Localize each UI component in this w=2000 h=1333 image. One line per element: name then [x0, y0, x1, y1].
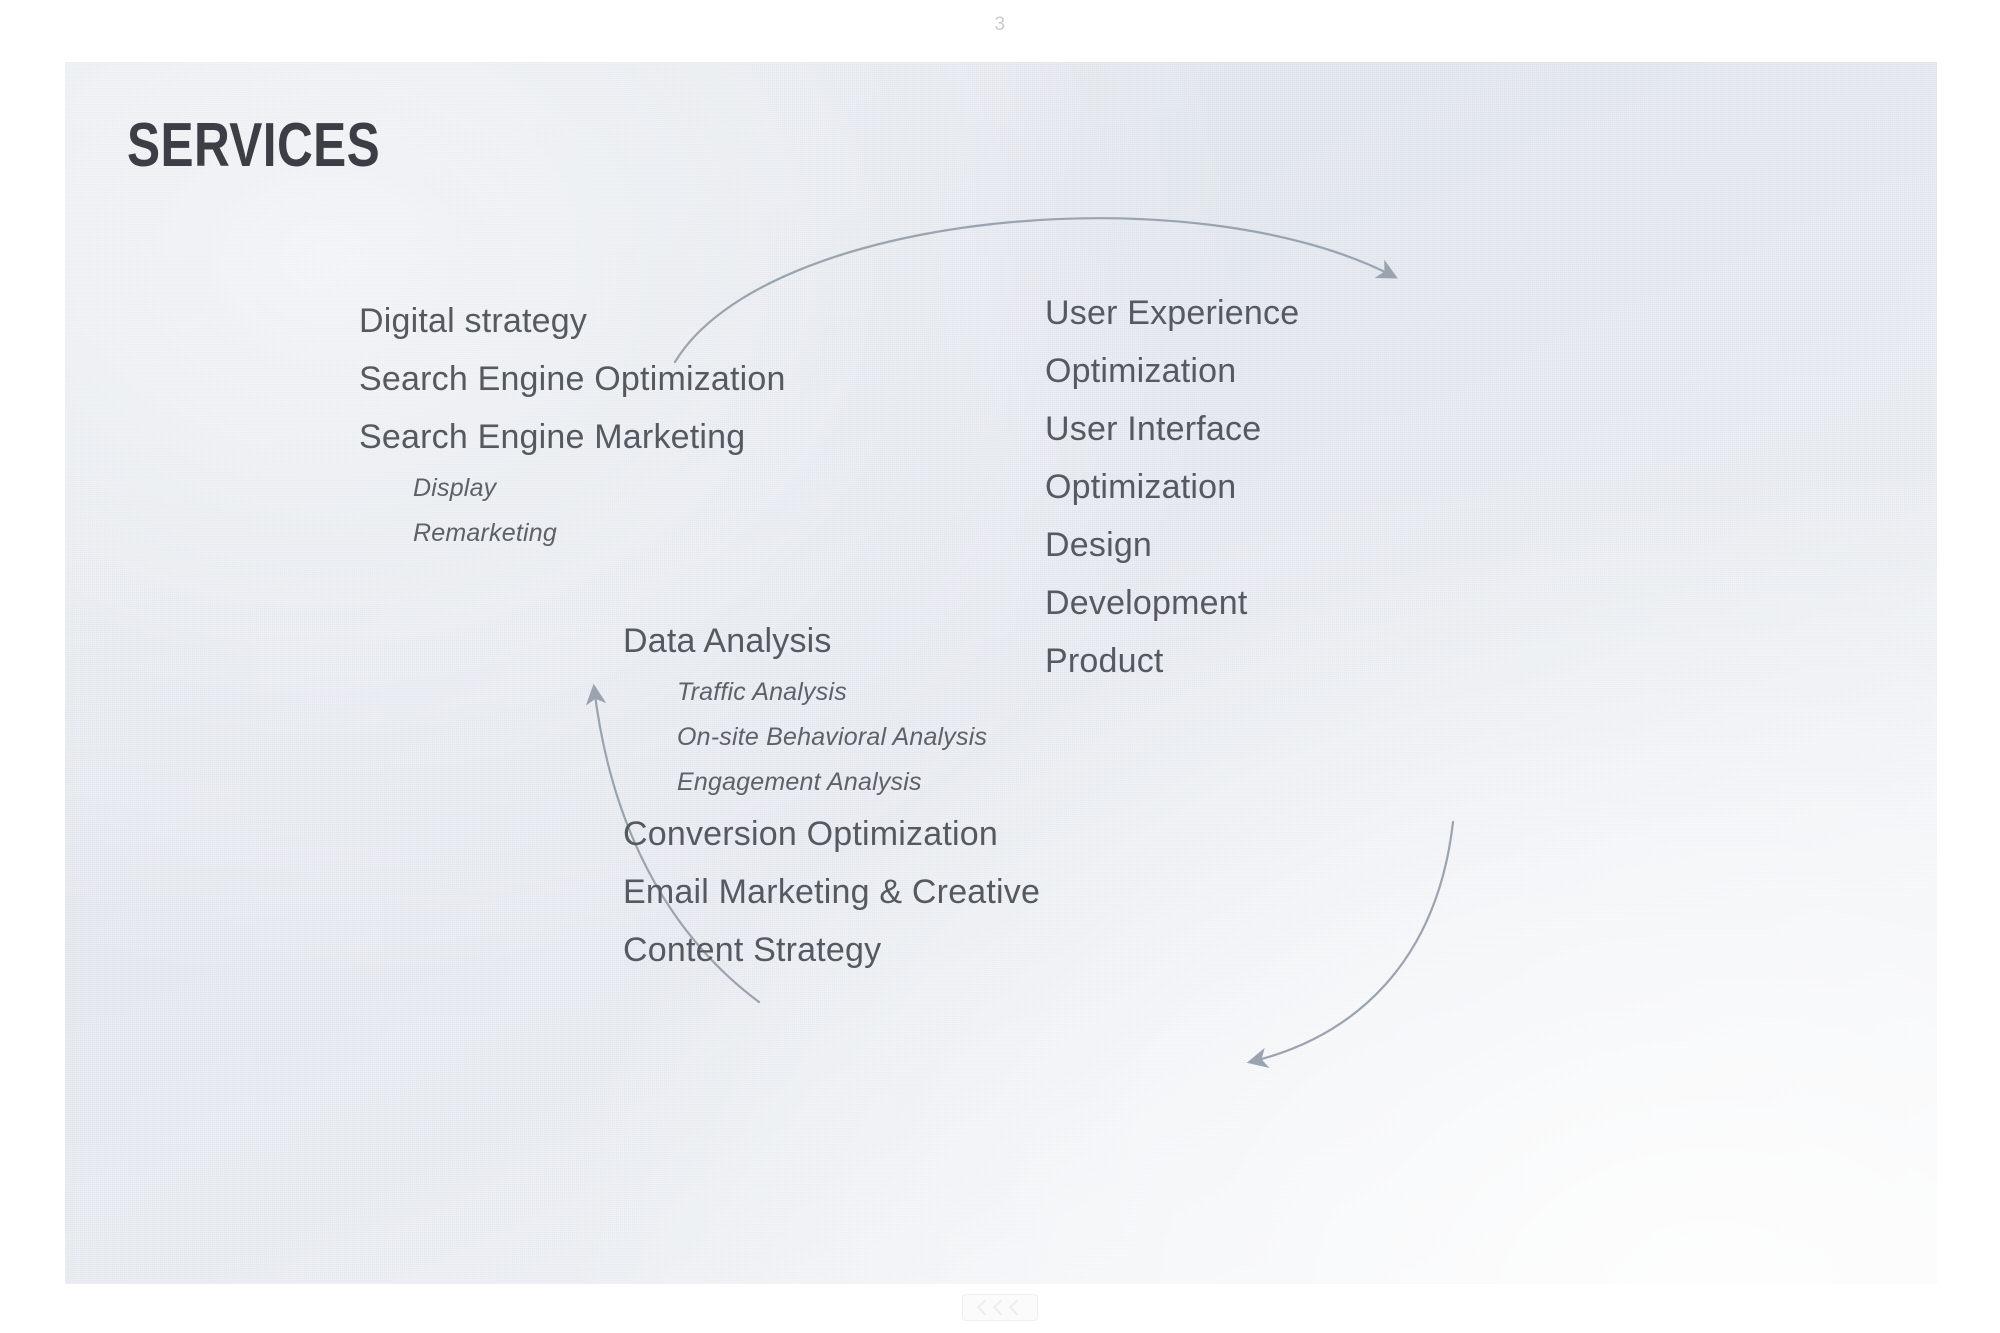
chevron-up-icon	[976, 1300, 992, 1316]
arrow-path-right	[1250, 822, 1453, 1062]
acquisition-services-block: Digital strategy Search Engine Optimizat…	[359, 292, 786, 556]
service-item: Development	[1045, 574, 1299, 632]
service-subitem: Engagement Analysis	[677, 760, 1040, 805]
service-subitem: Traffic Analysis	[677, 670, 1040, 715]
service-item: Optimization	[1045, 458, 1299, 516]
service-item: Content Strategy	[623, 921, 1040, 979]
page-number: 3	[0, 14, 2000, 36]
bottom-toolbar	[0, 1294, 2000, 1321]
service-item: Conversion Optimization	[623, 805, 1040, 863]
service-subitem: Remarketing	[413, 511, 786, 556]
service-item: Product	[1045, 632, 1299, 690]
service-item: Email Marketing & Creative	[623, 863, 1040, 921]
slide-viewer: 3 SERVICES Digital strategy	[0, 0, 2000, 1333]
service-subitem: Display	[413, 466, 786, 511]
service-item: User Interface	[1045, 400, 1299, 458]
service-item: Optimization	[1045, 342, 1299, 400]
chevron-up-icon	[992, 1300, 1008, 1316]
service-item: Data Analysis	[623, 612, 1040, 670]
chevron-up-icon	[1008, 1300, 1024, 1316]
experience-services-block: User Experience Optimization User Interf…	[1045, 284, 1299, 690]
service-item: User Experience	[1045, 284, 1299, 342]
service-item: Search Engine Marketing	[359, 408, 786, 466]
service-item: Search Engine Optimization	[359, 350, 786, 408]
service-item: Digital strategy	[359, 292, 786, 350]
service-subitem: On-site Behavioral Analysis	[677, 715, 1040, 760]
slide-canvas: SERVICES Digital strategy Search Engine …	[65, 62, 1937, 1284]
collapse-toolbar-button[interactable]	[962, 1294, 1038, 1321]
analytics-services-block: Data Analysis Traffic Analysis On-site B…	[623, 612, 1040, 979]
service-item: Design	[1045, 516, 1299, 574]
